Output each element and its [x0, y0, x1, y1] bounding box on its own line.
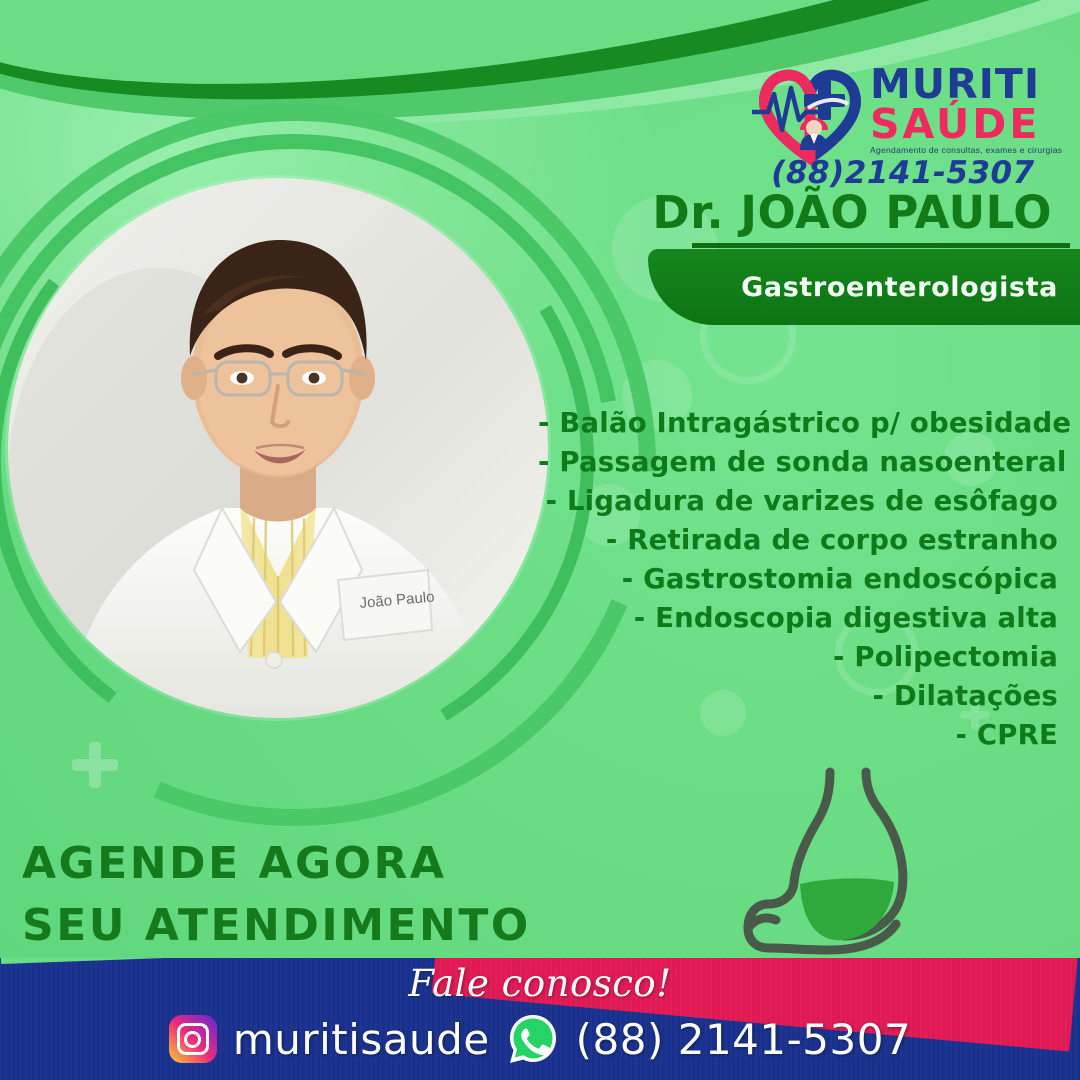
service-item: - Balão Intragástrico p/ obesidade — [538, 404, 1058, 443]
service-item: - Retirada de corpo estranho — [538, 521, 1058, 560]
whatsapp-number[interactable]: (88) 2141-5307 — [576, 1015, 912, 1064]
instagram-handle[interactable]: muritisaude — [233, 1015, 490, 1064]
footer-contact-row: muritisaude (88) 2141-5307 — [0, 1012, 1080, 1066]
specialty-banner: Gastroenterologista — [648, 249, 1080, 325]
stomach-organ-icon — [726, 758, 976, 963]
doctor-name: Dr. JOÃO PAULO — [652, 186, 1052, 239]
service-item: - Dilatações — [538, 677, 1058, 716]
brand-name-line2: SAÚDE — [870, 104, 1062, 144]
service-item: - Endoscopia digestiva alta — [538, 599, 1058, 638]
heart-pulse-icon — [752, 58, 870, 166]
footer-headline: Fale conosco! — [0, 962, 1080, 1005]
services-list: - Balão Intragástrico p/ obesidade - Pas… — [538, 404, 1058, 755]
doctor-portrait: João Paulo — [8, 178, 548, 718]
doctor-avatar-icon — [800, 118, 828, 150]
service-item: - Gastrostomia endoscópica — [538, 560, 1058, 599]
instagram-icon[interactable] — [169, 1015, 217, 1063]
brand-name-line1: MURITI — [870, 64, 1062, 104]
name-underline — [692, 243, 1070, 248]
call-to-action: AGENDE AGORA SEU ATENDIMENTO — [22, 833, 582, 957]
cta-line-2: SEU ATENDIMENTO — [22, 895, 582, 957]
contact-footer: Fale conosco! muritisaude (88) 2141-5307 — [0, 958, 1080, 1080]
whatsapp-icon[interactable] — [506, 1012, 560, 1066]
brand-tagline: Agendamento de consultas, exames e cirur… — [870, 145, 1062, 155]
brand-wordmark: MURITI SAÚDE Agendamento de consultas, e… — [870, 64, 1062, 155]
service-item: - Polipectomia — [538, 638, 1058, 677]
service-item: - Ligadura de varizes de esôfago — [538, 482, 1058, 521]
promo-poster: João Paulo MURITI SAÚDE Agendamento — [0, 0, 1080, 1080]
service-item: - Passagem de sonda nasoenteral — [538, 443, 1058, 482]
cta-line-1: AGENDE AGORA — [22, 833, 582, 895]
brand-logo: MURITI SAÚDE Agendamento de consultas, e… — [752, 58, 1064, 170]
service-item: - CPRE — [538, 716, 1058, 755]
specialty-label: Gastroenterologista — [741, 272, 1080, 303]
